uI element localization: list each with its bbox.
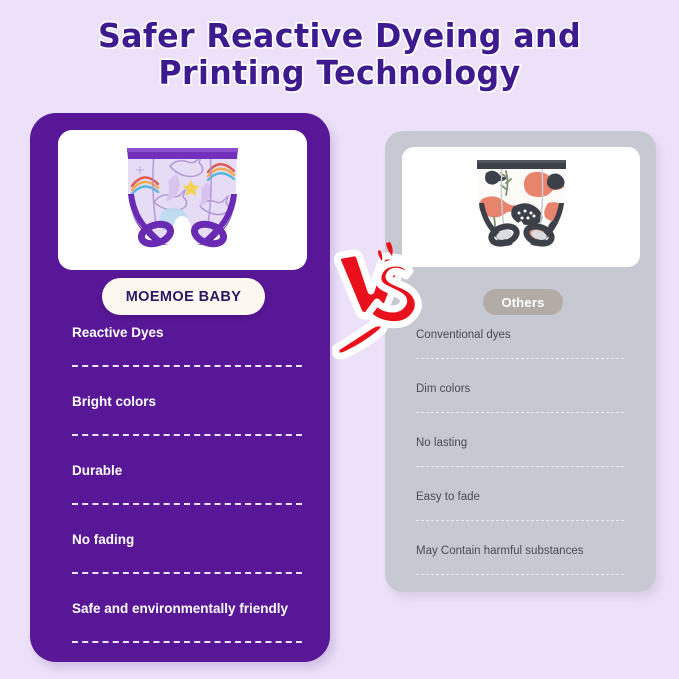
feature-row: No lasting — [416, 437, 624, 491]
brand-comparison-card: MOEMOE BABY Reactive Dyes Bright colors … — [30, 113, 330, 662]
feature-label: Reactive Dyes — [72, 325, 164, 340]
comparison-cards: MOEMOE BABY Reactive Dyes Bright colors … — [0, 0, 679, 679]
feature-label: May Contain harmful substances — [416, 545, 583, 557]
feature-divider — [72, 365, 302, 367]
feature-row: Dim colors — [416, 383, 624, 437]
feature-row: Bright colors — [72, 394, 302, 463]
feature-divider — [72, 503, 302, 505]
dinosaur-training-pants-image — [402, 147, 640, 267]
feature-row: Reactive Dyes — [72, 325, 302, 394]
feature-row: Safe and environmentally friendly — [72, 601, 302, 670]
unicorn-training-pants-image — [58, 130, 307, 270]
others-feature-list: Conventional dyes Dim colors No lasting … — [416, 329, 624, 599]
feature-label: Durable — [72, 463, 122, 478]
others-comparison-card: Others Conventional dyes Dim colors No l… — [385, 131, 656, 592]
feature-divider — [72, 572, 302, 574]
others-name-label: Others — [501, 295, 544, 310]
feature-row: May Contain harmful substances — [416, 545, 624, 599]
feature-divider — [72, 434, 302, 436]
feature-divider — [416, 412, 624, 413]
feature-row: Conventional dyes — [416, 329, 624, 383]
feature-divider — [416, 466, 624, 467]
feature-label: Conventional dyes — [416, 329, 511, 341]
brand-feature-list: Reactive Dyes Bright colors Durable No f… — [72, 325, 302, 670]
feature-divider — [416, 574, 624, 575]
feature-label: No lasting — [416, 437, 467, 449]
feature-label: Dim colors — [416, 383, 470, 395]
feature-row: Easy to fade — [416, 491, 624, 545]
feature-row: No fading — [72, 532, 302, 601]
others-name-badge: Others — [483, 289, 563, 315]
feature-label: Bright colors — [72, 394, 156, 409]
feature-divider — [416, 520, 624, 521]
brand-name-label: MOEMOE BABY — [126, 289, 242, 305]
feature-divider — [416, 358, 624, 359]
feature-row: Durable — [72, 463, 302, 532]
vs-icon — [322, 238, 426, 360]
others-product-photo-panel — [402, 147, 640, 267]
feature-label: No fading — [72, 532, 134, 547]
brand-product-photo-panel — [58, 130, 307, 270]
feature-label: Easy to fade — [416, 491, 480, 503]
feature-label: Safe and environmentally friendly — [72, 601, 288, 616]
versus-badge — [322, 238, 426, 360]
feature-divider — [72, 641, 302, 643]
brand-name-badge: MOEMOE BABY — [102, 278, 265, 315]
